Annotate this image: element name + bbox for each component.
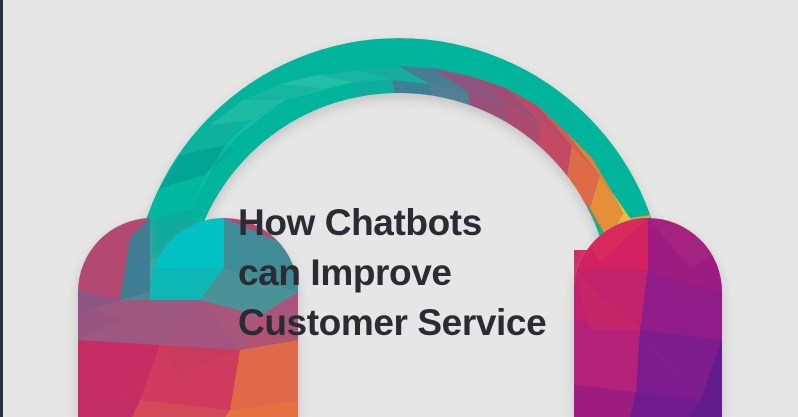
left-earcup (70, 210, 310, 417)
right-earcup (570, 210, 730, 417)
headphones-illustration (0, 0, 798, 417)
image-canvas: How Chatbots can Improve Customer Servic… (0, 0, 798, 417)
left-edge-rail (0, 0, 3, 417)
